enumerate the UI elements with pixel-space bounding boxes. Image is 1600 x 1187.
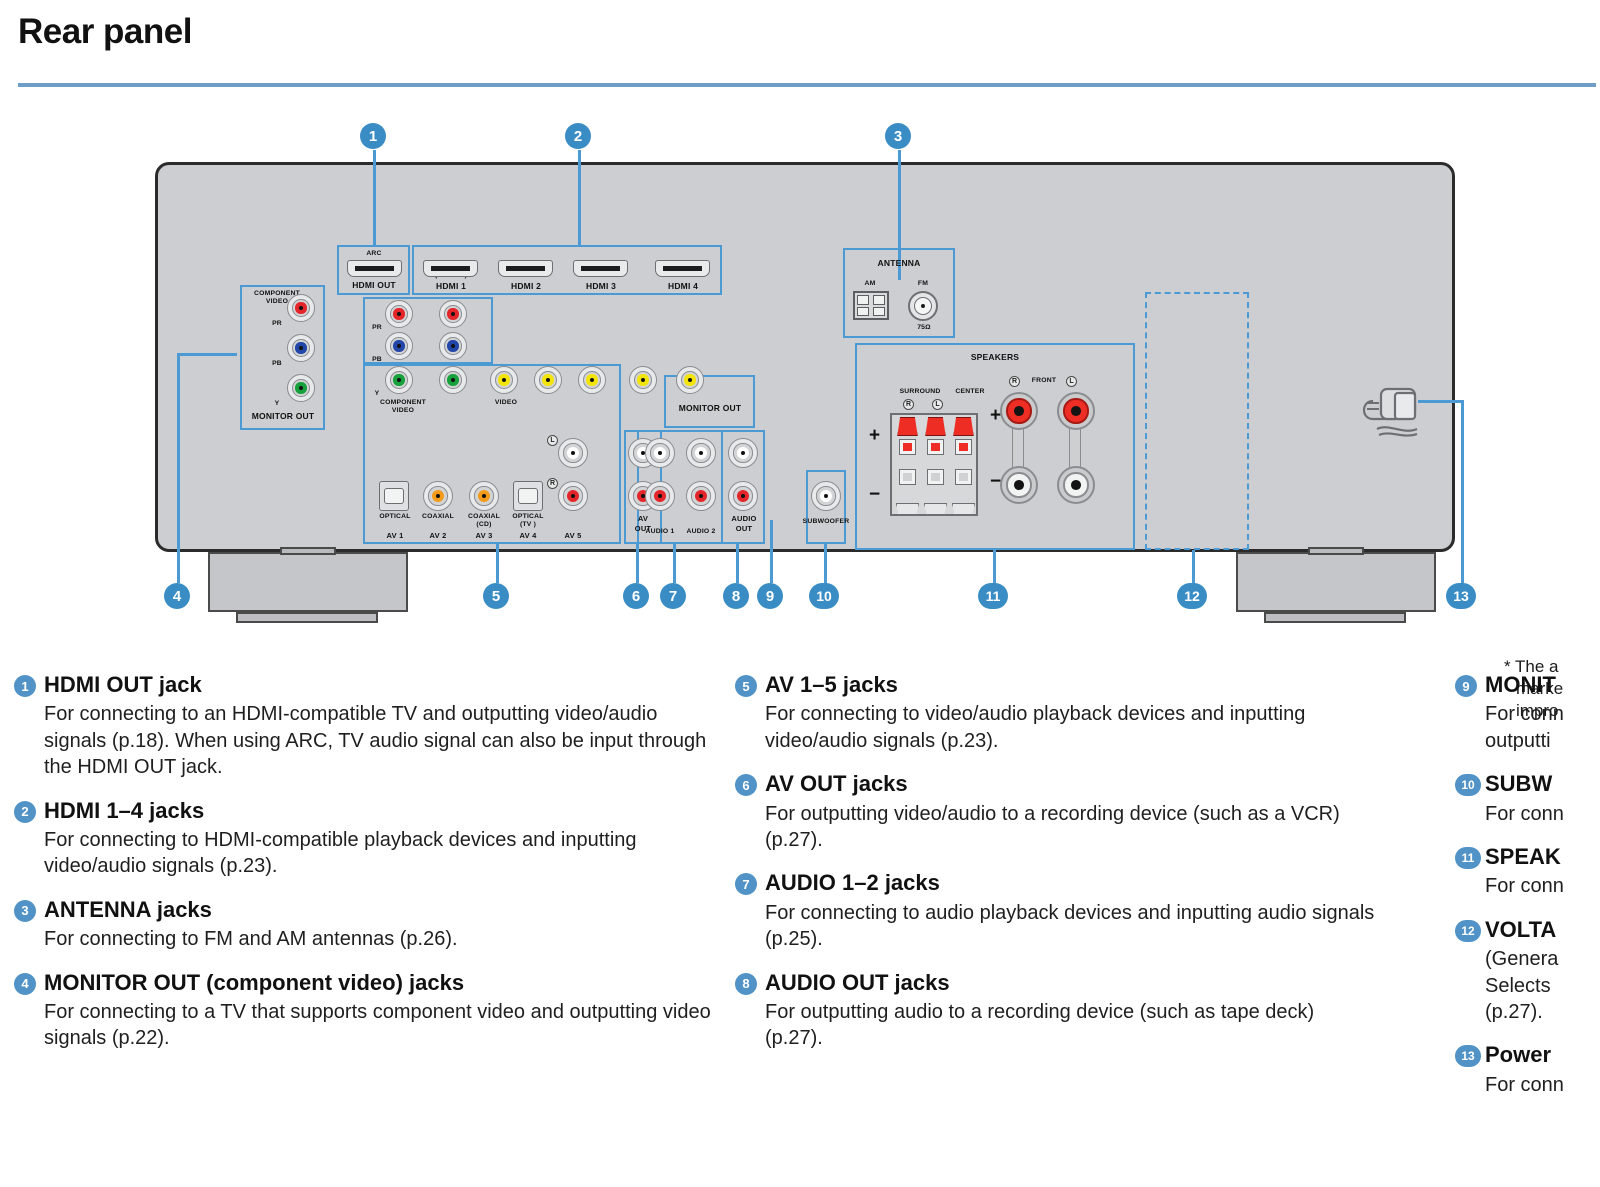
component-in-pb-jack-2 (439, 332, 467, 360)
jack-pin (658, 494, 663, 499)
description-item-7: 7 AUDIO 1–2 jacks For connecting to audi… (735, 870, 1375, 952)
jack-pin (571, 494, 576, 499)
av5-left-channel-icon: L (547, 435, 558, 446)
description-item-5: 5 AV 1–5 jacks For connecting to video/a… (735, 672, 1375, 754)
rear-panel-diagram: 1 2 3 4 5 6 7 8 9 10 11 12 13 ARC HDMI O… (0, 100, 1600, 660)
post-ring (1006, 472, 1031, 497)
monitor-out-pr-label: PR (266, 320, 288, 327)
item-title: AUDIO OUT jacks (735, 970, 1375, 996)
jack-ring (390, 371, 408, 389)
jack-pin (546, 378, 550, 382)
chassis-foot-left (208, 552, 408, 612)
front-l-positive-post (1057, 392, 1095, 430)
clip-socket (899, 439, 916, 455)
description-item-4: 4 MONITOR OUT (component video) jacks Fo… (14, 970, 714, 1052)
leader-5 (496, 544, 499, 583)
speaker-spring-terminal-block (890, 413, 978, 516)
jack-pin (299, 306, 303, 310)
antenna-am-label: AM (852, 280, 888, 287)
jack-ring (650, 486, 669, 505)
jack-core (432, 490, 444, 502)
av2-name-label: AV 2 (417, 531, 459, 540)
component-in-pr-label: PR (367, 324, 387, 331)
audio1-left-jack (645, 438, 675, 468)
jack-core (695, 447, 707, 459)
monitor-out-y-label: Y (268, 400, 286, 407)
title-divider (18, 83, 1596, 87)
subwoofer-label: SUBWOOFER (801, 518, 851, 525)
leader-10 (824, 544, 827, 583)
hdmi-2-label: HDMI 2 (493, 281, 559, 291)
component-in-pb-jack-1 (385, 332, 413, 360)
jack-core (654, 447, 666, 459)
jack-core (447, 308, 458, 319)
jack-pin (699, 451, 704, 456)
component-in-y-jack-1 (385, 366, 413, 394)
video-jack-2 (534, 366, 562, 394)
av4-optical-port (513, 481, 543, 511)
description-item-1: 1 HDMI OUT jack For connecting to an HDM… (14, 672, 714, 781)
hdmi-slot (431, 266, 469, 271)
optical-inner (384, 488, 403, 504)
am-terminal-socket (873, 295, 885, 305)
jack-ring (428, 486, 447, 505)
description-item-8: 8 AUDIO OUT jacks For outputting audio t… (735, 970, 1375, 1052)
clip-base (896, 503, 920, 515)
jack-ring (474, 486, 493, 505)
clip-base (924, 503, 948, 515)
clip-socket-fill (931, 443, 939, 451)
item-body: For connecting to FM and AM antennas (p.… (14, 926, 714, 952)
description-item-6: 6 AV OUT jacks For outputting video/audi… (735, 771, 1375, 853)
callout-8: 8 (723, 583, 749, 609)
callout-4: 4 (164, 583, 190, 609)
component-in-pr-jack-2 (439, 300, 467, 328)
jack-ring (634, 371, 652, 389)
post-hole (1014, 406, 1024, 416)
leader-2 (578, 150, 581, 245)
jack-ring (563, 486, 582, 505)
jack-ring (292, 339, 310, 357)
jack-pin (571, 451, 576, 456)
post-ring (1006, 398, 1031, 423)
post-hole (1071, 480, 1081, 490)
item-title: ANTENNA jacks (14, 897, 714, 923)
clip-socket-fill (903, 443, 911, 451)
callout-3: 3 (885, 123, 911, 149)
item-body-line-1: For conn (1455, 801, 1600, 827)
av5-name-label: AV 5 (552, 531, 594, 540)
antenna-fm-label: FM (905, 280, 941, 287)
jack-core (447, 374, 458, 385)
av1-optical-port (379, 481, 409, 511)
power-cord-icon (1355, 375, 1435, 445)
post-ring (1063, 472, 1088, 497)
item-title: HDMI 1–4 jacks (14, 798, 714, 824)
jack-core (393, 308, 404, 319)
description-column-2: 5 AV 1–5 jacks For connecting to video/a… (735, 672, 1375, 1069)
jack-core (586, 374, 597, 385)
description-column-1: 1 HDMI OUT jack For connecting to an HDM… (14, 672, 714, 1069)
jack-core (737, 490, 749, 502)
monitor-out-video-label: MONITOR OUT (665, 403, 755, 413)
av3-name-label: AV 3 (463, 531, 505, 540)
component-in-title-line2: VIDEO (372, 407, 434, 414)
component-in-y-label: Y (369, 390, 385, 397)
jack-pin (397, 378, 401, 382)
item-number-badge: 5 (735, 675, 757, 697)
jack-core (478, 490, 490, 502)
clip-socket-fill (959, 473, 967, 481)
jack-core (295, 382, 306, 393)
jack-core (393, 374, 404, 385)
description-item-9: 9 MONIT For conn outputti (1455, 672, 1600, 754)
av3-coaxial-jack (469, 481, 499, 511)
antenna-impedance-label: 75Ω (905, 324, 943, 331)
component-in-pr-jack-1 (385, 300, 413, 328)
am-terminal-socket (857, 307, 869, 317)
am-terminal-half (857, 295, 869, 316)
front-r-negative-post (1000, 466, 1038, 504)
jack-pin (699, 494, 704, 499)
audio-out-left-jack (728, 438, 758, 468)
monitor-out-component-label: MONITOR OUT (243, 411, 323, 421)
center-label: CENTER (948, 388, 992, 395)
jack-pin (658, 451, 663, 456)
jack-ring (650, 443, 669, 462)
audio-out-right-jack (728, 481, 758, 511)
leader-9 (770, 520, 773, 583)
subwoofer-jack (811, 481, 841, 511)
am-terminal-socket (857, 295, 869, 305)
monitor-out-y-jack (287, 374, 315, 402)
clip-lever (897, 417, 918, 436)
clip-socket (955, 439, 972, 455)
item-body: For connecting to video/audio playback d… (735, 701, 1375, 754)
item-body-line-1: For conn (1455, 873, 1600, 899)
item-title: AV 1–5 jacks (735, 672, 1375, 698)
jack-ring (563, 443, 582, 462)
audio2-label: AUDIO 2 (680, 528, 722, 535)
coax-pin (921, 304, 925, 308)
jack-core (295, 302, 306, 313)
jack-ring (583, 371, 601, 389)
hdmi-slot (581, 266, 619, 271)
item-number-badge: 10 (1455, 774, 1481, 796)
av-out-video-jack (629, 366, 657, 394)
jack-pin (482, 494, 487, 499)
item-title: MONITOR OUT (component video) jacks (14, 970, 714, 996)
jack-pin (688, 378, 692, 382)
item-number-badge: 9 (1455, 675, 1477, 697)
monitor-out-video-jack (676, 366, 704, 394)
jack-ring (495, 371, 513, 389)
item-number-badge: 12 (1455, 920, 1481, 942)
jack-core (542, 374, 553, 385)
item-body-line-1: For conn (1455, 1072, 1600, 1098)
hdmi-3-label: HDMI 3 (568, 281, 634, 291)
hdmi-4-label: HDMI 4 (650, 281, 716, 291)
description-item-3: 3 ANTENNA jacks For connecting to FM and… (14, 897, 714, 953)
leader-1 (373, 150, 376, 245)
av-out-label-line1: AV (623, 514, 663, 523)
audio1-right-jack (645, 481, 675, 511)
jack-core (393, 340, 404, 351)
description-item-13: 13 Power For conn (1455, 1042, 1600, 1098)
item-title: AV OUT jacks (735, 771, 1375, 797)
jack-pin (824, 494, 829, 499)
jack-pin (299, 386, 303, 390)
component-in-y-jack-2 (439, 366, 467, 394)
item-number-badge: 1 (14, 675, 36, 697)
surround-r-clip-negative (894, 467, 921, 515)
av3-type-label: COAXIAL (463, 513, 505, 520)
front-l-negative-post (1057, 466, 1095, 504)
jack-ring (691, 443, 710, 462)
item-body-line-2: Selects (1455, 973, 1600, 999)
hdmi-1-port (423, 260, 478, 277)
jack-core (498, 374, 509, 385)
clip-socket (927, 439, 944, 455)
jack-pin (590, 378, 594, 382)
front-label: FRONT (1023, 377, 1065, 384)
clip-base (952, 503, 976, 515)
optical-inner (518, 488, 537, 504)
av5-right-channel-icon: R (547, 478, 558, 489)
foot-tab (280, 547, 336, 555)
jack-pin (451, 344, 455, 348)
clip-socket-fill (903, 473, 911, 481)
jack-pin (436, 494, 441, 499)
av2-coaxial-jack (423, 481, 453, 511)
leader-6 (636, 544, 639, 583)
speaker-minus-left: − (869, 485, 880, 504)
jack-pin (451, 378, 455, 382)
jack-ring (816, 486, 835, 505)
item-body-line-3: (p.27). (1455, 999, 1600, 1025)
clip-socket (927, 469, 944, 485)
leader-8 (736, 544, 739, 583)
monitor-out-pr-jack (287, 294, 315, 322)
item-body: For connecting to an HDMI-compatible TV … (14, 701, 714, 780)
jack-ring (733, 486, 752, 505)
item-body-line-1: For conn (1455, 701, 1600, 727)
item-title: HDMI OUT jack (14, 672, 714, 698)
jack-core (737, 447, 749, 459)
item-body: For connecting to audio playback devices… (735, 900, 1375, 953)
hdmi-4-port (655, 260, 710, 277)
jack-ring (733, 443, 752, 462)
jack-ring (539, 371, 557, 389)
clip-lever (953, 417, 974, 436)
audio2-left-jack (686, 438, 716, 468)
description-item-10: 10 SUBW For conn (1455, 771, 1600, 827)
jack-pin (299, 346, 303, 350)
item-number-badge: 4 (14, 973, 36, 995)
hdmi-out-label: HDMI OUT (339, 280, 409, 290)
av5-right-jack (558, 481, 588, 511)
monitor-out-pb-label: PB (266, 360, 288, 367)
item-number-badge: 8 (735, 973, 757, 995)
item-number-badge: 13 (1455, 1045, 1481, 1067)
jack-ring (444, 371, 462, 389)
av1-name-label: AV 1 (374, 531, 416, 540)
post-hole (1014, 480, 1024, 490)
av1-type-label: OPTICAL (374, 513, 416, 520)
chassis-foot-right (1236, 552, 1436, 612)
description-item-2: 2 HDMI 1–4 jacks For connecting to HDMI-… (14, 798, 714, 880)
callout-5: 5 (483, 583, 509, 609)
clip-socket-fill (959, 443, 967, 451)
clip-socket (899, 469, 916, 485)
monitor-out-pb-jack (287, 334, 315, 362)
jack-core (820, 490, 832, 502)
clip-socket-fill (931, 473, 939, 481)
item-body: For outputting audio to a recording devi… (735, 999, 1375, 1052)
jack-core (447, 340, 458, 351)
center-clip-negative (950, 467, 977, 515)
front-l-icon: L (1066, 376, 1077, 387)
callout-6: 6 (623, 583, 649, 609)
post-hole (1071, 406, 1081, 416)
page-title: Rear panel (18, 12, 192, 52)
item-body: For outputting video/audio to a recordin… (735, 801, 1375, 854)
leader-13 (1461, 400, 1464, 583)
antenna-title: ANTENNA (848, 258, 950, 268)
jack-ring (681, 371, 699, 389)
foot-tab (1308, 547, 1364, 555)
coax-ring (914, 297, 932, 315)
fm-antenna-connector (908, 291, 938, 321)
foot-lip (236, 612, 378, 623)
hdmi-2-port (498, 260, 553, 277)
leader-4-horizontal (177, 353, 237, 356)
item-body: For connecting to a TV that supports com… (14, 999, 714, 1052)
hdmi-slot (506, 266, 544, 271)
speakers-title: SPEAKERS (940, 352, 1050, 362)
hdmi-slot (355, 266, 393, 271)
av2-type-label: COAXIAL (417, 513, 459, 520)
jack-pin (397, 344, 401, 348)
jack-ring (390, 305, 408, 323)
jack-ring (444, 337, 462, 355)
leader-7 (673, 544, 676, 583)
leader-12 (1192, 550, 1195, 583)
jack-pin (502, 378, 506, 382)
video-jack-1 (490, 366, 518, 394)
front-r-positive-post (1000, 392, 1038, 430)
post-ring (1063, 398, 1088, 423)
av4-type-sub-label: (TV ) (507, 521, 549, 528)
jack-core (637, 374, 648, 385)
av4-type-label: OPTICAL (507, 513, 549, 520)
item-body: For connecting to HDMI-compatible playba… (14, 827, 714, 880)
jack-core (567, 447, 579, 459)
description-item-11: 11 SPEAK For conn (1455, 844, 1600, 900)
speaker-plus-left: + (869, 426, 880, 445)
jack-core (684, 374, 695, 385)
group-box-voltage-selector (1145, 292, 1249, 550)
jack-pin (397, 312, 401, 316)
callout-13: 13 (1446, 583, 1476, 609)
callout-2: 2 (565, 123, 591, 149)
surround-l-icon: L (932, 399, 943, 410)
item-title: AUDIO 1–2 jacks (735, 870, 1375, 896)
am-terminal-socket (873, 307, 885, 317)
item-number-badge: 3 (14, 900, 36, 922)
am-terminal-half (873, 295, 885, 316)
component-in-title-line1: COMPONENT (372, 399, 434, 406)
callout-10: 10 (809, 583, 839, 609)
am-antenna-terminal (853, 291, 889, 320)
receiver-chassis (155, 162, 1455, 552)
leader-4 (177, 353, 180, 583)
video-jack-3 (578, 366, 606, 394)
clip-socket (955, 469, 972, 485)
surround-r-icon: R (903, 399, 914, 410)
jack-core (654, 490, 666, 502)
jack-pin (451, 312, 455, 316)
jack-ring (292, 379, 310, 397)
video-label: VIDEO (486, 399, 526, 406)
jack-pin (741, 451, 746, 456)
jack-core (567, 490, 579, 502)
item-number-badge: 6 (735, 774, 757, 796)
item-body-line-2: outputti (1455, 728, 1600, 754)
surround-l-clip-negative (922, 467, 949, 515)
item-number-badge: 11 (1455, 847, 1481, 869)
surround-label: SURROUND (890, 388, 950, 395)
jack-pin (741, 494, 746, 499)
callout-1: 1 (360, 123, 386, 149)
jack-core (695, 490, 707, 502)
item-body-line-1: (Genera (1455, 946, 1600, 972)
arc-label: ARC (345, 250, 403, 257)
component-in-pb-label: PB (367, 356, 387, 363)
hdmi-3-port (573, 260, 628, 277)
hdmi-slot (663, 266, 701, 271)
description-item-12: 12 VOLTA (Genera Selects (p.27). (1455, 917, 1600, 1026)
jack-pin (641, 378, 645, 382)
av3-type-sub-label: (CD) (463, 521, 505, 528)
clip-lever (925, 417, 946, 436)
foot-lip (1264, 612, 1406, 623)
audio2-right-jack (686, 481, 716, 511)
jack-ring (691, 486, 710, 505)
leader-11 (993, 550, 996, 583)
item-number-badge: 2 (14, 801, 36, 823)
callout-12: 12 (1177, 583, 1207, 609)
surround-l-clip (922, 417, 949, 465)
center-clip (950, 417, 977, 465)
front-r-icon: R (1009, 376, 1020, 387)
jack-ring (292, 299, 310, 317)
av4-name-label: AV 4 (507, 531, 549, 540)
callout-11: 11 (978, 583, 1008, 609)
audio1-label: AUDIO 1 (639, 528, 681, 535)
jack-core (295, 342, 306, 353)
av5-left-jack (558, 438, 588, 468)
description-column-3: 9 MONIT For conn outputti 10 SUBW For co… (1455, 672, 1600, 1115)
callout-9: 9 (757, 583, 783, 609)
hdmi-1-label: HDMI 1 (418, 281, 484, 291)
jack-ring (444, 305, 462, 323)
jack-ring (390, 337, 408, 355)
callout-7: 7 (660, 583, 686, 609)
audio-out-label-line2: OUT (723, 524, 765, 533)
surround-r-clip (894, 417, 921, 465)
audio-out-label-line1: AUDIO (723, 514, 765, 523)
